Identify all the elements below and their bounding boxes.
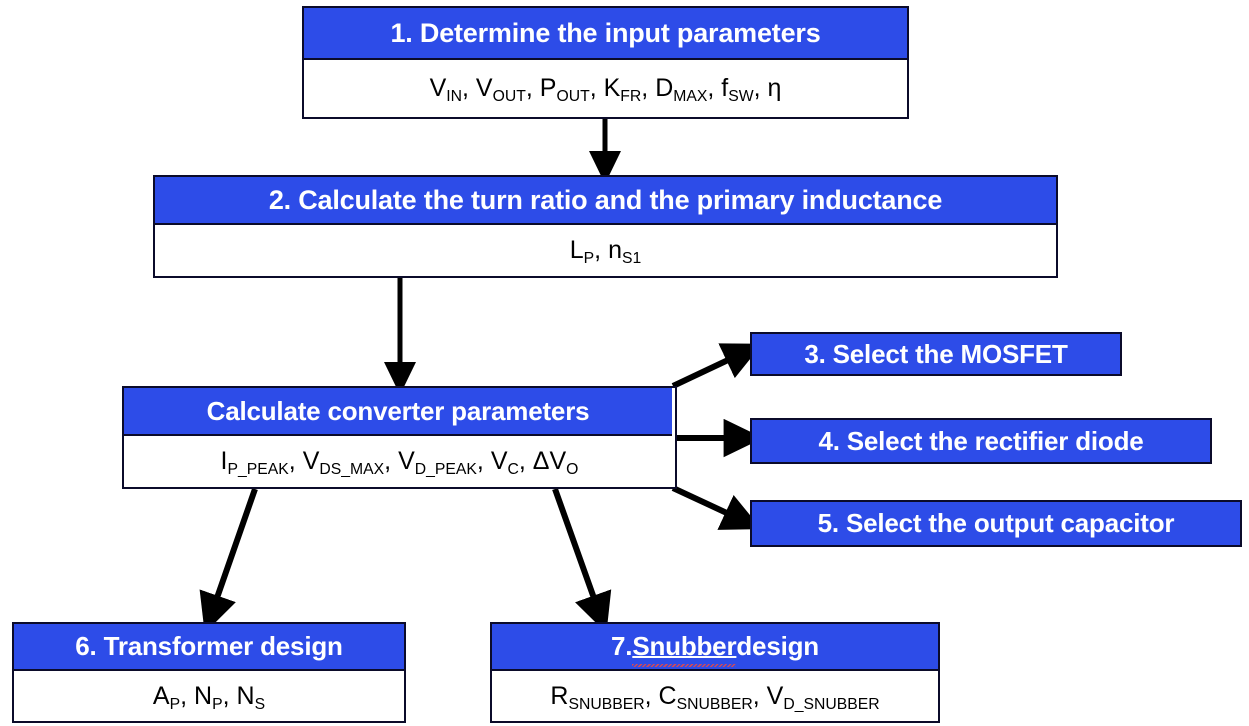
formula-list: VIN, VOUT, POUT, KFR, DMAX, fSW, η [430, 74, 782, 103]
node-step-2-body: LP, nS1 [155, 225, 1056, 276]
node-calculate-converter-parameters[interactable]: Calculate converter parameters IP_PEAK, … [122, 386, 677, 489]
node-step-7-header-suffix: design [736, 631, 819, 662]
node-step-7-body: RSNUBBER, CSNUBBER, VD_SNUBBER [492, 671, 938, 721]
node-step-2[interactable]: 2. Calculate the turn ratio and the prim… [153, 175, 1058, 278]
formula-list: RSNUBBER, CSNUBBER, VD_SNUBBER [550, 682, 879, 711]
edge-calc-step6 [211, 489, 255, 615]
node-step-7-header-prefix: 7. [611, 631, 632, 662]
node-calc-body: IP_PEAK, VDS_MAX, VD_PEAK, VC, ΔVO [124, 436, 675, 487]
node-step-4-header: 4. Select the rectifier diode [752, 420, 1210, 462]
formula-list: IP_PEAK, VDS_MAX, VD_PEAK, VC, ΔVO [221, 447, 579, 476]
formula-list: AP, NP, NS [153, 682, 265, 711]
node-step-1[interactable]: 1. Determine the input parameters VIN, V… [302, 6, 909, 119]
node-step-6[interactable]: 6. Transformer design AP, NP, NS [12, 622, 406, 723]
node-calc-header: Calculate converter parameters [124, 388, 672, 436]
edge-calc-step7 [555, 489, 600, 615]
node-step-6-header: 6. Transformer design [14, 624, 404, 671]
node-step-6-body: AP, NP, NS [14, 671, 404, 721]
node-step-3-header: 3. Select the MOSFET [752, 334, 1120, 374]
node-step-7[interactable]: 7. Snubber design RSNUBBER, CSNUBBER, VD… [490, 622, 940, 723]
node-step-7-header: 7. Snubber design [492, 624, 938, 671]
node-step-5[interactable]: 5. Select the output capacitor [750, 500, 1242, 547]
formula-list: LP, nS1 [570, 236, 642, 265]
edge-calc-step5 [673, 441, 744, 521]
node-step-5-header: 5. Select the output capacitor [752, 502, 1240, 545]
misspelled-word-snubber: Snubber [632, 631, 736, 662]
flowchart-canvas: 1. Determine the input parameters VIN, V… [0, 0, 1249, 726]
node-step-4[interactable]: 4. Select the rectifier diode [750, 418, 1212, 464]
node-step-3[interactable]: 3. Select the MOSFET [750, 332, 1122, 376]
edge-calc-step3 [673, 352, 745, 435]
node-step-2-header: 2. Calculate the turn ratio and the prim… [155, 177, 1056, 225]
node-step-1-body: VIN, VOUT, POUT, KFR, DMAX, fSW, η [304, 60, 907, 117]
node-step-1-header: 1. Determine the input parameters [304, 8, 907, 60]
